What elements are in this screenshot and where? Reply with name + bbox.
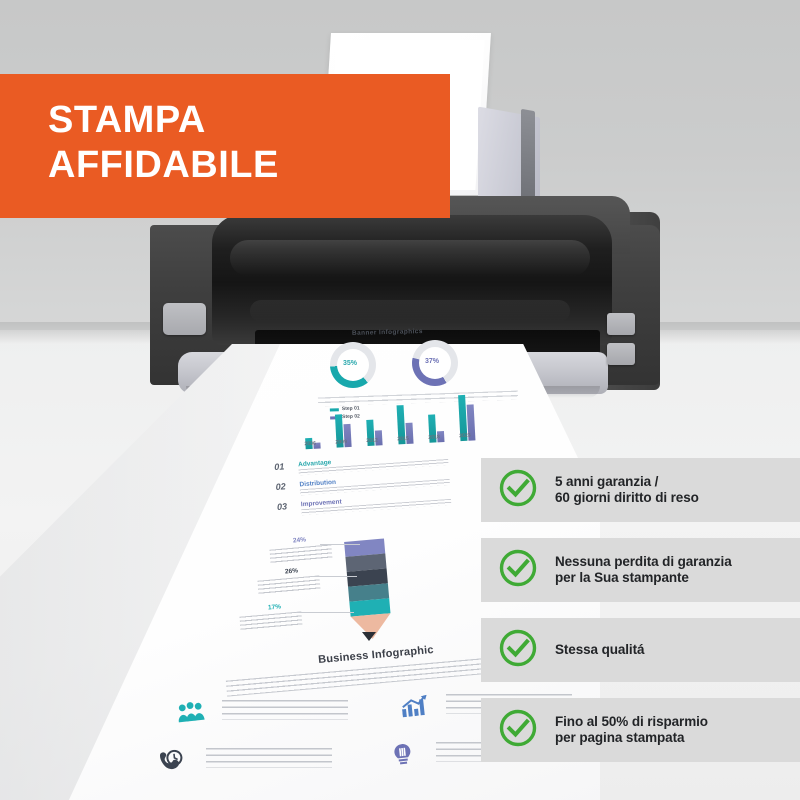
feature-line-2: per la Sua stampante	[555, 570, 689, 585]
step-row: 01 Advantage	[274, 462, 275, 482]
clock-phone-icon	[159, 749, 187, 774]
lid-highlight	[230, 240, 590, 276]
pyramid-leader-3	[296, 612, 354, 613]
donut-value-2: 37%	[425, 358, 439, 365]
printer-lid	[212, 215, 612, 345]
check-circle-icon	[498, 628, 538, 673]
feature-row-4[interactable]: Fino al 50% di risparmio per pagina stam…	[481, 698, 800, 762]
bar-chart: 200620092012201520182023	[299, 379, 512, 450]
feature-row-2[interactable]: Nessuna perdita di garanzia per la Sua s…	[481, 538, 800, 602]
people-group-icon	[177, 701, 205, 724]
icon-block-clock	[159, 749, 188, 779]
bar-chart-arrow-icon	[401, 695, 429, 718]
feature-line-1: Stessa qualitá	[555, 642, 644, 657]
pyramid-label-1: 24%	[293, 536, 307, 544]
steps-list: 01 Advantage 02 Distribution 03 Improvem…	[274, 462, 278, 522]
pyramid-leader-1	[320, 544, 360, 545]
lightbulb-icon	[391, 743, 415, 767]
feature-label-3: Stessa qualitá	[555, 642, 644, 659]
icon-block-chart	[401, 695, 429, 723]
feature-line-1: 5 anni garanzia /	[555, 474, 658, 489]
printout-business-paragraph	[226, 655, 516, 696]
headline-line-1: STAMPA	[48, 99, 206, 141]
feature-line-2: per pagina stampata	[555, 730, 684, 745]
power-button[interactable]	[163, 303, 206, 335]
icon-block-bulb	[391, 743, 416, 772]
check-circle-icon	[498, 548, 538, 593]
bar-category-label: 2015	[397, 436, 409, 443]
feature-row-1[interactable]: 5 anni garanzia / 60 giorni diritto di r…	[481, 458, 800, 522]
icon-text-people	[222, 700, 348, 720]
step-row: 03 Improvement	[277, 502, 278, 522]
step-number: 01	[274, 461, 285, 472]
bar-category-label: 2023	[459, 433, 471, 440]
pyramid-text-3	[240, 611, 303, 630]
step-number: 02	[275, 481, 286, 492]
feature-line-2: 60 giorni diritto di reso	[555, 490, 699, 505]
step-number: 03	[277, 501, 288, 512]
promo-image: Banner Infographics 35% 37% Step 01 Step…	[0, 0, 800, 800]
feature-line-1: Fino al 50% di risparmio	[555, 714, 708, 729]
feature-label-4: Fino al 50% di risparmio per pagina stam…	[555, 714, 708, 747]
pyramid-leader-2	[312, 576, 357, 577]
bar-category-label: 2009	[335, 439, 347, 446]
pyramid-label-2: 26%	[285, 567, 299, 575]
bar-category-label: 2012	[366, 437, 378, 444]
headline-text: STAMPA AFFIDABILE	[0, 74, 450, 188]
lid-highlight-secondary	[250, 300, 570, 322]
bar-category-label: 2018	[428, 434, 440, 441]
feature-line-1: Nessuna perdita di garanzia	[555, 554, 732, 569]
function-button-1[interactable]	[607, 313, 635, 335]
headline-line-2: AFFIDABILE	[48, 144, 279, 186]
paper-feed-tray-edge	[521, 109, 535, 209]
pyramid-text-1	[270, 544, 333, 563]
donut-value-1: 35%	[343, 360, 357, 367]
bar-category-label: 2006	[304, 441, 316, 448]
icon-block-people	[177, 701, 205, 729]
pyramid-label-3: 17%	[268, 603, 282, 611]
check-circle-icon	[498, 468, 538, 513]
step-row: 02 Distribution	[275, 482, 276, 502]
pyramid-text-2	[258, 575, 321, 594]
feature-row-3[interactable]: Stessa qualitá	[481, 618, 800, 682]
pencil-lead	[362, 632, 376, 641]
feature-label-1: 5 anni garanzia / 60 giorni diritto di r…	[555, 474, 699, 507]
feature-label-2: Nessuna perdita di garanzia per la Sua s…	[555, 554, 732, 587]
icon-text-clock	[206, 748, 332, 768]
headline-banner: STAMPA AFFIDABILE	[0, 74, 450, 218]
function-button-2[interactable]	[607, 343, 635, 365]
check-circle-icon	[498, 708, 538, 753]
